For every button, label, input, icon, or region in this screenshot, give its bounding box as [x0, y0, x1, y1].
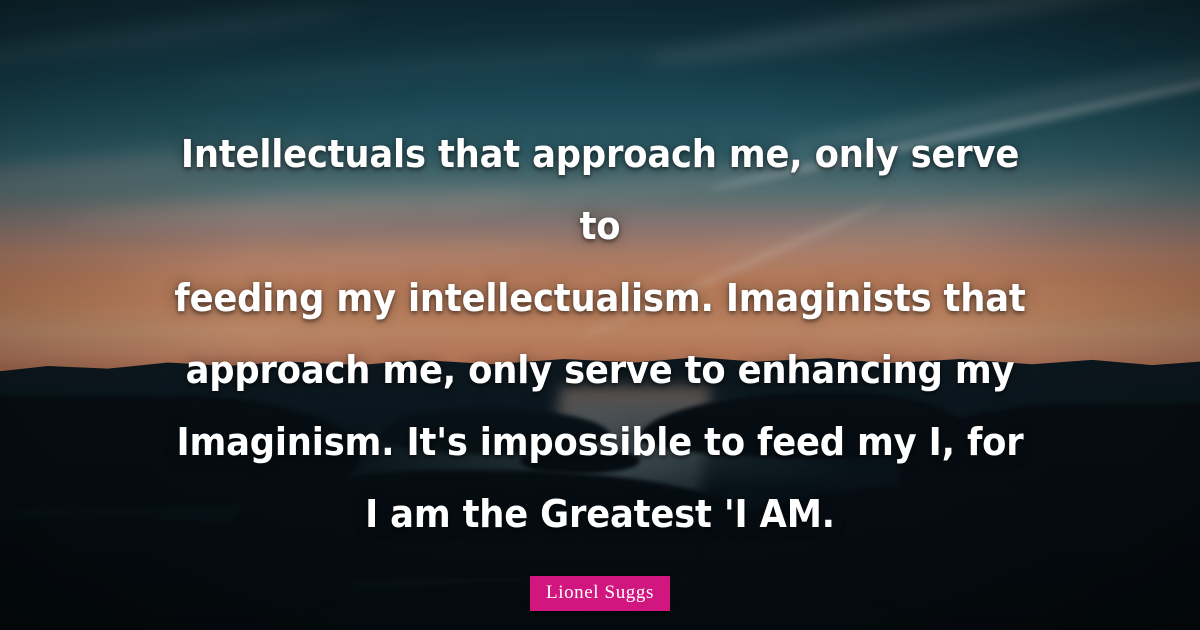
- quote-line: Intellectuals that approach me, only ser…: [168, 118, 1033, 262]
- quote-line: approach me, only serve to enhancing my: [168, 334, 1033, 406]
- card-content: Intellectuals that approach me, only ser…: [0, 0, 1200, 630]
- quote-line: Imaginism. It's impossible to feed my I,…: [168, 406, 1033, 478]
- quote-text: Intellectuals that approach me, only ser…: [168, 118, 1033, 550]
- quote-card: Intellectuals that approach me, only ser…: [0, 0, 1200, 630]
- author-badge[interactable]: Lionel Suggs: [530, 576, 670, 611]
- quote-line: feeding my intellectualism. Imaginists t…: [168, 262, 1033, 334]
- quote-line: I am the Greatest 'I AM.: [168, 478, 1033, 550]
